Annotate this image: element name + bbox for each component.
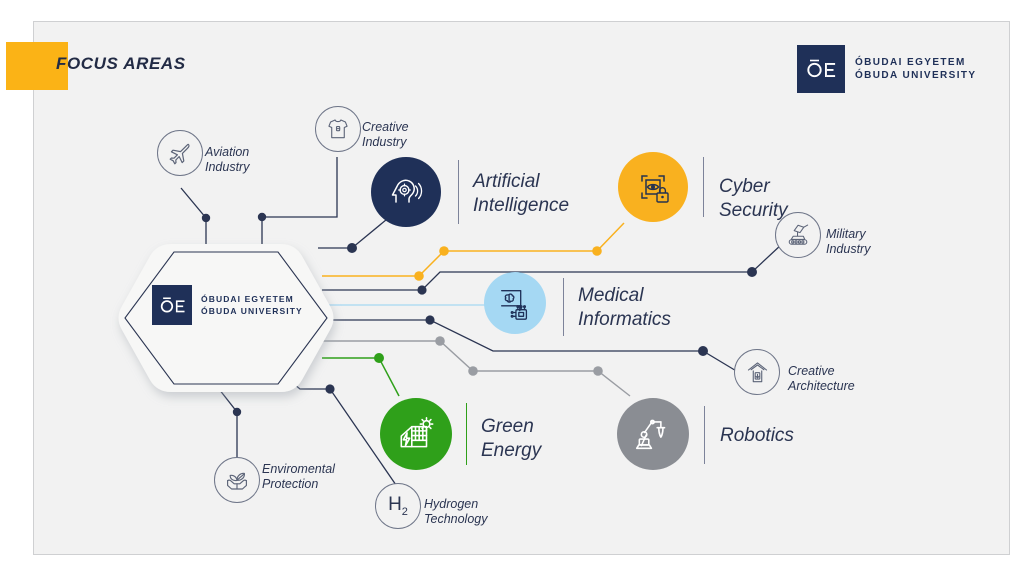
robotics-node-circle[interactable] (617, 398, 689, 470)
robotics-divider-rule (704, 406, 705, 464)
military-industry-node-circle[interactable] (775, 212, 821, 258)
house-blueprint-icon (745, 360, 770, 385)
sub-area-label-creative-industry: Creative Industry (362, 120, 409, 150)
wire-robotics (322, 336, 630, 396)
h2-icon: H2 (388, 494, 408, 518)
wire-creative-industry (258, 157, 337, 246)
ai-head-gear-icon (386, 172, 426, 212)
creative-industry-node-circle[interactable] (315, 106, 361, 152)
wire-aviation-industry (181, 188, 210, 252)
creative-architecture-node-circle[interactable] (734, 349, 780, 395)
airplane-icon (167, 140, 193, 166)
sub-area-label-enviromental-protection: Enviromental Protection (262, 462, 335, 492)
tshirt-icon (326, 117, 350, 141)
sub-area-label-creative-architecture: Creative Architecture (788, 364, 855, 394)
focus-area-label-cyber-security: Cyber Security (719, 175, 788, 223)
wire-artificial-intelligence (318, 215, 392, 253)
sub-area-label-aviation-industry: Aviation Industry (205, 145, 249, 175)
center-hexagon-logo: ÓBUDAI EGYETEM ÓBUDA UNIVERSITY (152, 285, 303, 325)
robot-arm-icon (632, 413, 674, 455)
focus-area-label-ai: Artificial Intelligence (473, 170, 569, 218)
center-logo-wordmark: ÓBUDAI EGYETEM ÓBUDA UNIVERSITY (201, 295, 303, 315)
center-brand-line-2: ÓBUDA UNIVERSITY (201, 307, 303, 316)
hands-leaf-icon (224, 467, 250, 493)
sub-area-label-hydrogen-technology: Hydrogen Technology (424, 497, 487, 527)
aviation-node-circle[interactable] (157, 130, 203, 176)
hydrogen-technology-node-circle[interactable]: H2 (375, 483, 421, 529)
oe-monogram-icon (152, 285, 192, 325)
eye-lock-icon (633, 167, 673, 207)
sub-area-label-military-industry: Military Industry (826, 227, 870, 257)
center-brand-line-1: ÓBUDAI EGYETEM (201, 295, 303, 304)
medical-informatics-node-circle[interactable] (484, 272, 546, 334)
green-energy-divider-rule (466, 403, 467, 465)
brain-chip-icon (496, 284, 534, 322)
medical-informatics-divider-rule (563, 278, 564, 336)
focus-area-label-green-energy: Green Energy (481, 415, 541, 463)
cyber-security-divider-rule (703, 157, 704, 217)
tank-radar-icon (785, 222, 812, 249)
focus-area-label-robotics: Robotics (720, 424, 794, 448)
enviromental-protection-node-circle[interactable] (214, 457, 260, 503)
green-energy-node-circle[interactable] (380, 398, 452, 470)
cyber-security-node-circle[interactable] (618, 152, 688, 222)
ai-node-circle[interactable] (371, 157, 441, 227)
slide-canvas: FOCUS AREAS ÓBUDAI EGYETEM ÓBUDA UNIVERS… (0, 0, 1024, 576)
focus-area-label-medical-informatics: Medical Informatics (578, 284, 671, 332)
ai-divider-rule (458, 160, 459, 224)
solar-house-sun-icon (395, 413, 437, 455)
